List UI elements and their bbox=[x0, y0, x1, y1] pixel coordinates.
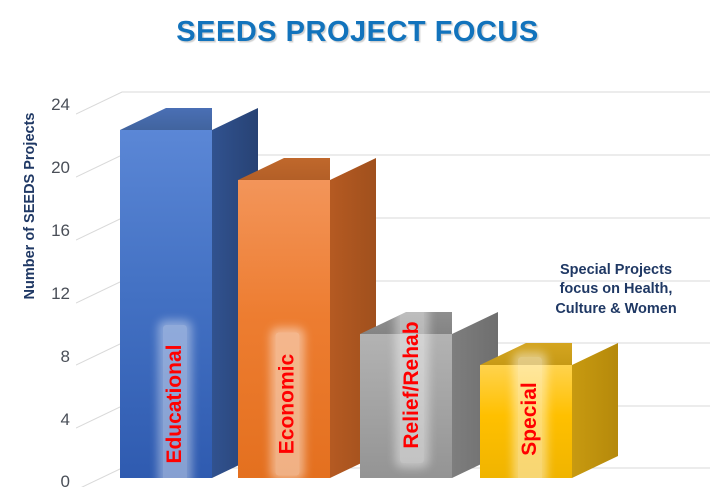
chart-container: SEEDS PROJECT FOCUS Number of SEEDS Proj… bbox=[0, 0, 715, 498]
bar-special-side bbox=[572, 343, 618, 478]
bar-label-educational: Educational bbox=[163, 325, 187, 483]
bar-relief-rehab[interactable] bbox=[360, 312, 498, 478]
y-tick-0: 0 bbox=[36, 473, 70, 490]
y-axis-tick-labels: 24 20 16 12 8 4 0 bbox=[26, 0, 70, 498]
bar-educational[interactable] bbox=[120, 108, 258, 478]
y-tick-4: 4 bbox=[36, 411, 70, 428]
bar-economic[interactable] bbox=[238, 158, 376, 478]
bar-label-economic: Economic bbox=[275, 333, 299, 476]
bar-special[interactable] bbox=[480, 343, 618, 478]
y-tick-16: 16 bbox=[36, 222, 70, 239]
annotation-special-projects: Special Projects focus on Health, Cultur… bbox=[519, 261, 713, 319]
bar-educational-top bbox=[120, 108, 212, 130]
chart-title: SEEDS PROJECT FOCUS bbox=[0, 16, 715, 49]
bar-label-special: Special bbox=[518, 357, 542, 481]
y-tick-24: 24 bbox=[36, 96, 70, 113]
annotation-line-3: Culture & Women bbox=[519, 300, 713, 319]
bar-label-relief-rehab: Relief/Rehab bbox=[400, 307, 424, 463]
y-tick-20: 20 bbox=[36, 159, 70, 176]
y-tick-12: 12 bbox=[36, 285, 70, 302]
annotation-line-1: Special Projects bbox=[519, 261, 713, 280]
annotation-line-2: focus on Health, bbox=[519, 280, 713, 299]
y-tick-8: 8 bbox=[36, 348, 70, 365]
